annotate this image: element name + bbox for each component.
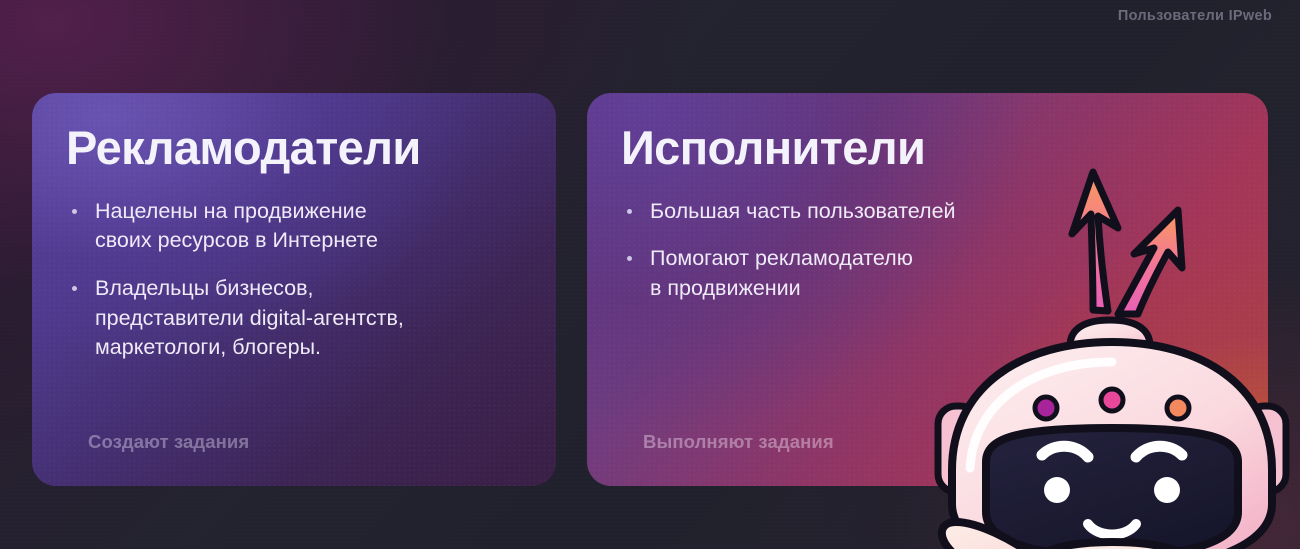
- antenna-left-icon: [1072, 172, 1118, 311]
- antenna-right-icon: [1118, 210, 1182, 314]
- list-item: Владельцы бизнесов, представители digita…: [66, 274, 522, 363]
- astronaut-robot-mascot-icon: [930, 118, 1300, 549]
- card-advertisers-title: Рекламодатели: [66, 123, 522, 173]
- bullet-dot-icon: [627, 209, 632, 214]
- bullet-text: Нацелены на продвижение своих ресурсов в…: [95, 197, 378, 256]
- list-item: Нацелены на продвижение своих ресурсов в…: [66, 197, 522, 256]
- card-advertisers: Рекламодатели Нацелены на продвижение св…: [32, 93, 556, 486]
- slide-canvas: Пользователи IPweb Рекламодатели Нацелен…: [0, 0, 1300, 549]
- card-advertisers-footnote: Создают задания: [88, 431, 249, 453]
- indicator-dot-3: [1167, 397, 1189, 419]
- card-performers-footnote: Выполняют задания: [643, 431, 834, 453]
- bullet-dot-icon: [72, 209, 77, 214]
- eye-left-icon: [1044, 477, 1070, 503]
- bullet-text: Большая часть пользователей: [650, 197, 956, 227]
- bullet-dot-icon: [72, 286, 77, 291]
- bullet-text: Владельцы бизнесов, представители digita…: [95, 274, 404, 363]
- bullet-text: Помогают рекламодателю в продвижении: [650, 244, 913, 303]
- brand-watermark: Пользователи IPweb: [1118, 8, 1272, 24]
- bullet-dot-icon: [627, 256, 632, 261]
- card-advertisers-bullet-list: Нацелены на продвижение своих ресурсов в…: [66, 197, 522, 363]
- eye-right-icon: [1154, 477, 1180, 503]
- indicator-dot-2: [1101, 389, 1123, 411]
- indicator-dot-1: [1035, 397, 1057, 419]
